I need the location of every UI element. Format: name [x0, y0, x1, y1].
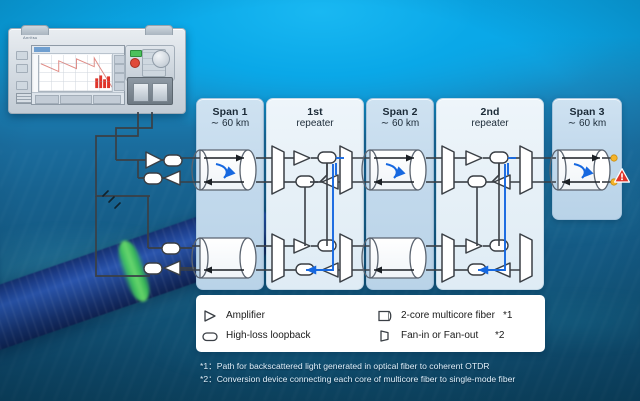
high-loss-loopback-icon [200, 329, 220, 343]
high-loss-loopback-left-mid [144, 173, 162, 184]
high-loss-loopback-left-bottom [144, 263, 162, 274]
fan-out-repeater2-top [520, 146, 532, 194]
amplifier-left-top [146, 152, 162, 168]
legend-label-amplifier: Amplifier [226, 310, 265, 322]
footnotes: *1：Path for backscattered light generate… [200, 360, 620, 386]
legend-note-fan-in-fan-out: *2 [495, 330, 504, 342]
amplifier-icon [200, 309, 220, 323]
span2-fiber-bottom [362, 238, 426, 278]
fault-warning-icon [614, 168, 630, 183]
fan-out-repeater1-bottom [340, 234, 352, 282]
fan-in-repeater2-bottom [442, 234, 454, 282]
legend-note-multicore-fiber: *1 [503, 310, 512, 322]
amplifier-rep1-top [294, 151, 310, 165]
high-loss-loopback-left-low [162, 243, 180, 254]
high-loss-loopback-rep1-top [318, 152, 336, 163]
fan-in-repeater2-top [442, 146, 454, 194]
multicore-fiber-icon [375, 309, 395, 323]
amplifier-left-mid [164, 171, 180, 185]
span3-fiber-top [550, 150, 614, 190]
fan-in-repeater1-bottom [272, 234, 284, 282]
legend-label-fan-in-fan-out: Fan-in or Fan-out [401, 330, 478, 342]
high-loss-loopback-rep2-upper [468, 176, 486, 187]
diagram-canvas: Anritsu [0, 0, 640, 401]
span1-fiber-bottom [192, 238, 256, 278]
legend-box: Amplifier High-loss loopback 2-core mult… [196, 295, 545, 352]
footnote-2: *2：Conversion device connecting each cor… [200, 373, 620, 386]
span2-fiber-top [362, 150, 426, 190]
footnote-1: *1：Path for backscattered light generate… [200, 360, 620, 373]
fan-in-fan-out-icon [375, 329, 395, 343]
span1-fiber-top [192, 150, 256, 190]
legend-label-high-loss-loopback: High-loss loopback [226, 330, 311, 342]
amplifier-rep2-top [466, 151, 482, 165]
legend-label-multicore-fiber: 2-core multicore fiber [401, 310, 495, 322]
otdr-feeder-cables [96, 112, 196, 276]
high-loss-loopback-rep2-top [490, 152, 508, 163]
fan-out-repeater2-bottom [520, 234, 532, 282]
amplifier-rep2-bottom [466, 239, 482, 253]
fan-in-repeater1-top [272, 146, 284, 194]
cable-splice-marks [103, 191, 120, 208]
amplifier-rep1-bottom [294, 239, 310, 253]
amplifier-left-bottom [164, 261, 180, 275]
fan-out-repeater1-top [340, 146, 352, 194]
high-loss-loopback-left-top [164, 155, 182, 166]
